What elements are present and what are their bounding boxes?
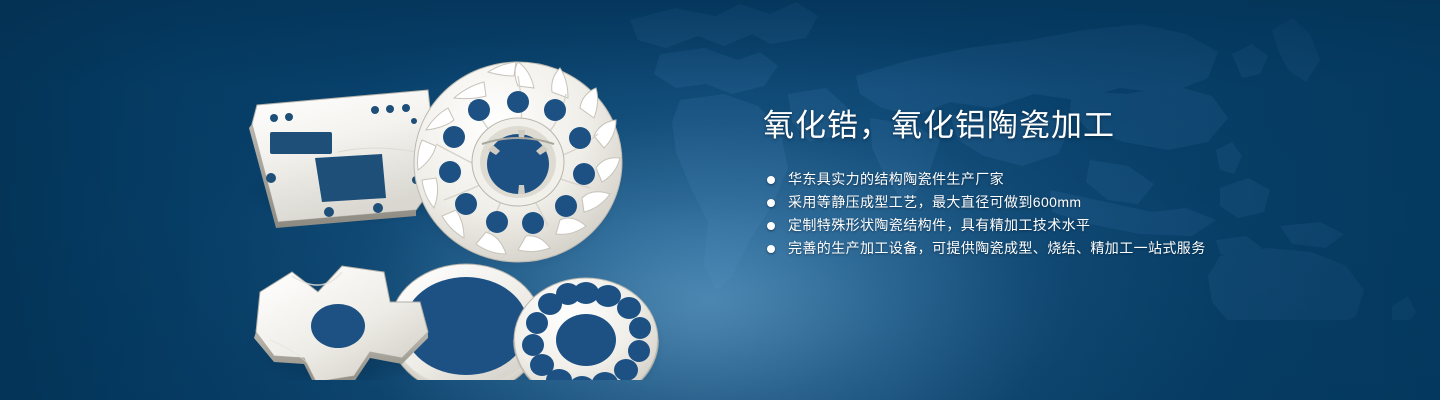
feature-text: 定制特殊形状陶瓷结构件，具有精加工技术水平 [788, 214, 1090, 237]
feature-text: 完善的生产加工设备，可提供陶瓷成型、烧结、精加工一站式服务 [788, 237, 1206, 260]
bullet-dot-icon [767, 245, 775, 253]
list-item: 华东具实力的结构陶瓷件生产厂家 [763, 168, 1323, 191]
list-item: 定制特殊形状陶瓷结构件，具有精加工技术水平 [763, 214, 1323, 237]
feature-text: 采用等静压成型工艺，最大直径可做到600mm [788, 191, 1081, 214]
hero-banner: 氧化锆，氧化铝陶瓷加工 华东具实力的结构陶瓷件生产厂家 采用等静压成型工艺，最大… [0, 0, 1440, 400]
banner-headline: 氧化锆，氧化铝陶瓷加工 [763, 106, 1323, 146]
list-item: 完善的生产加工设备，可提供陶瓷成型、烧结、精加工一站式服务 [763, 237, 1323, 260]
bullet-dot-icon [767, 176, 775, 184]
bullet-dot-icon [767, 222, 775, 230]
feature-text: 华东具实力的结构陶瓷件生产厂家 [788, 168, 1004, 191]
feature-list: 华东具实力的结构陶瓷件生产厂家 采用等静压成型工艺，最大直径可做到600mm 定… [763, 168, 1323, 260]
bullet-dot-icon [767, 199, 775, 207]
ceramic-impeller-disc [414, 62, 622, 262]
ceramic-valve-plate [514, 278, 658, 380]
ceramic-mounting-plate [249, 90, 438, 228]
product-photo-cluster [230, 40, 700, 380]
banner-copy: 氧化锆，氧化铝陶瓷加工 华东具实力的结构陶瓷件生产厂家 采用等静压成型工艺，最大… [763, 106, 1323, 260]
list-item: 采用等静压成型工艺，最大直径可做到600mm [763, 191, 1323, 214]
